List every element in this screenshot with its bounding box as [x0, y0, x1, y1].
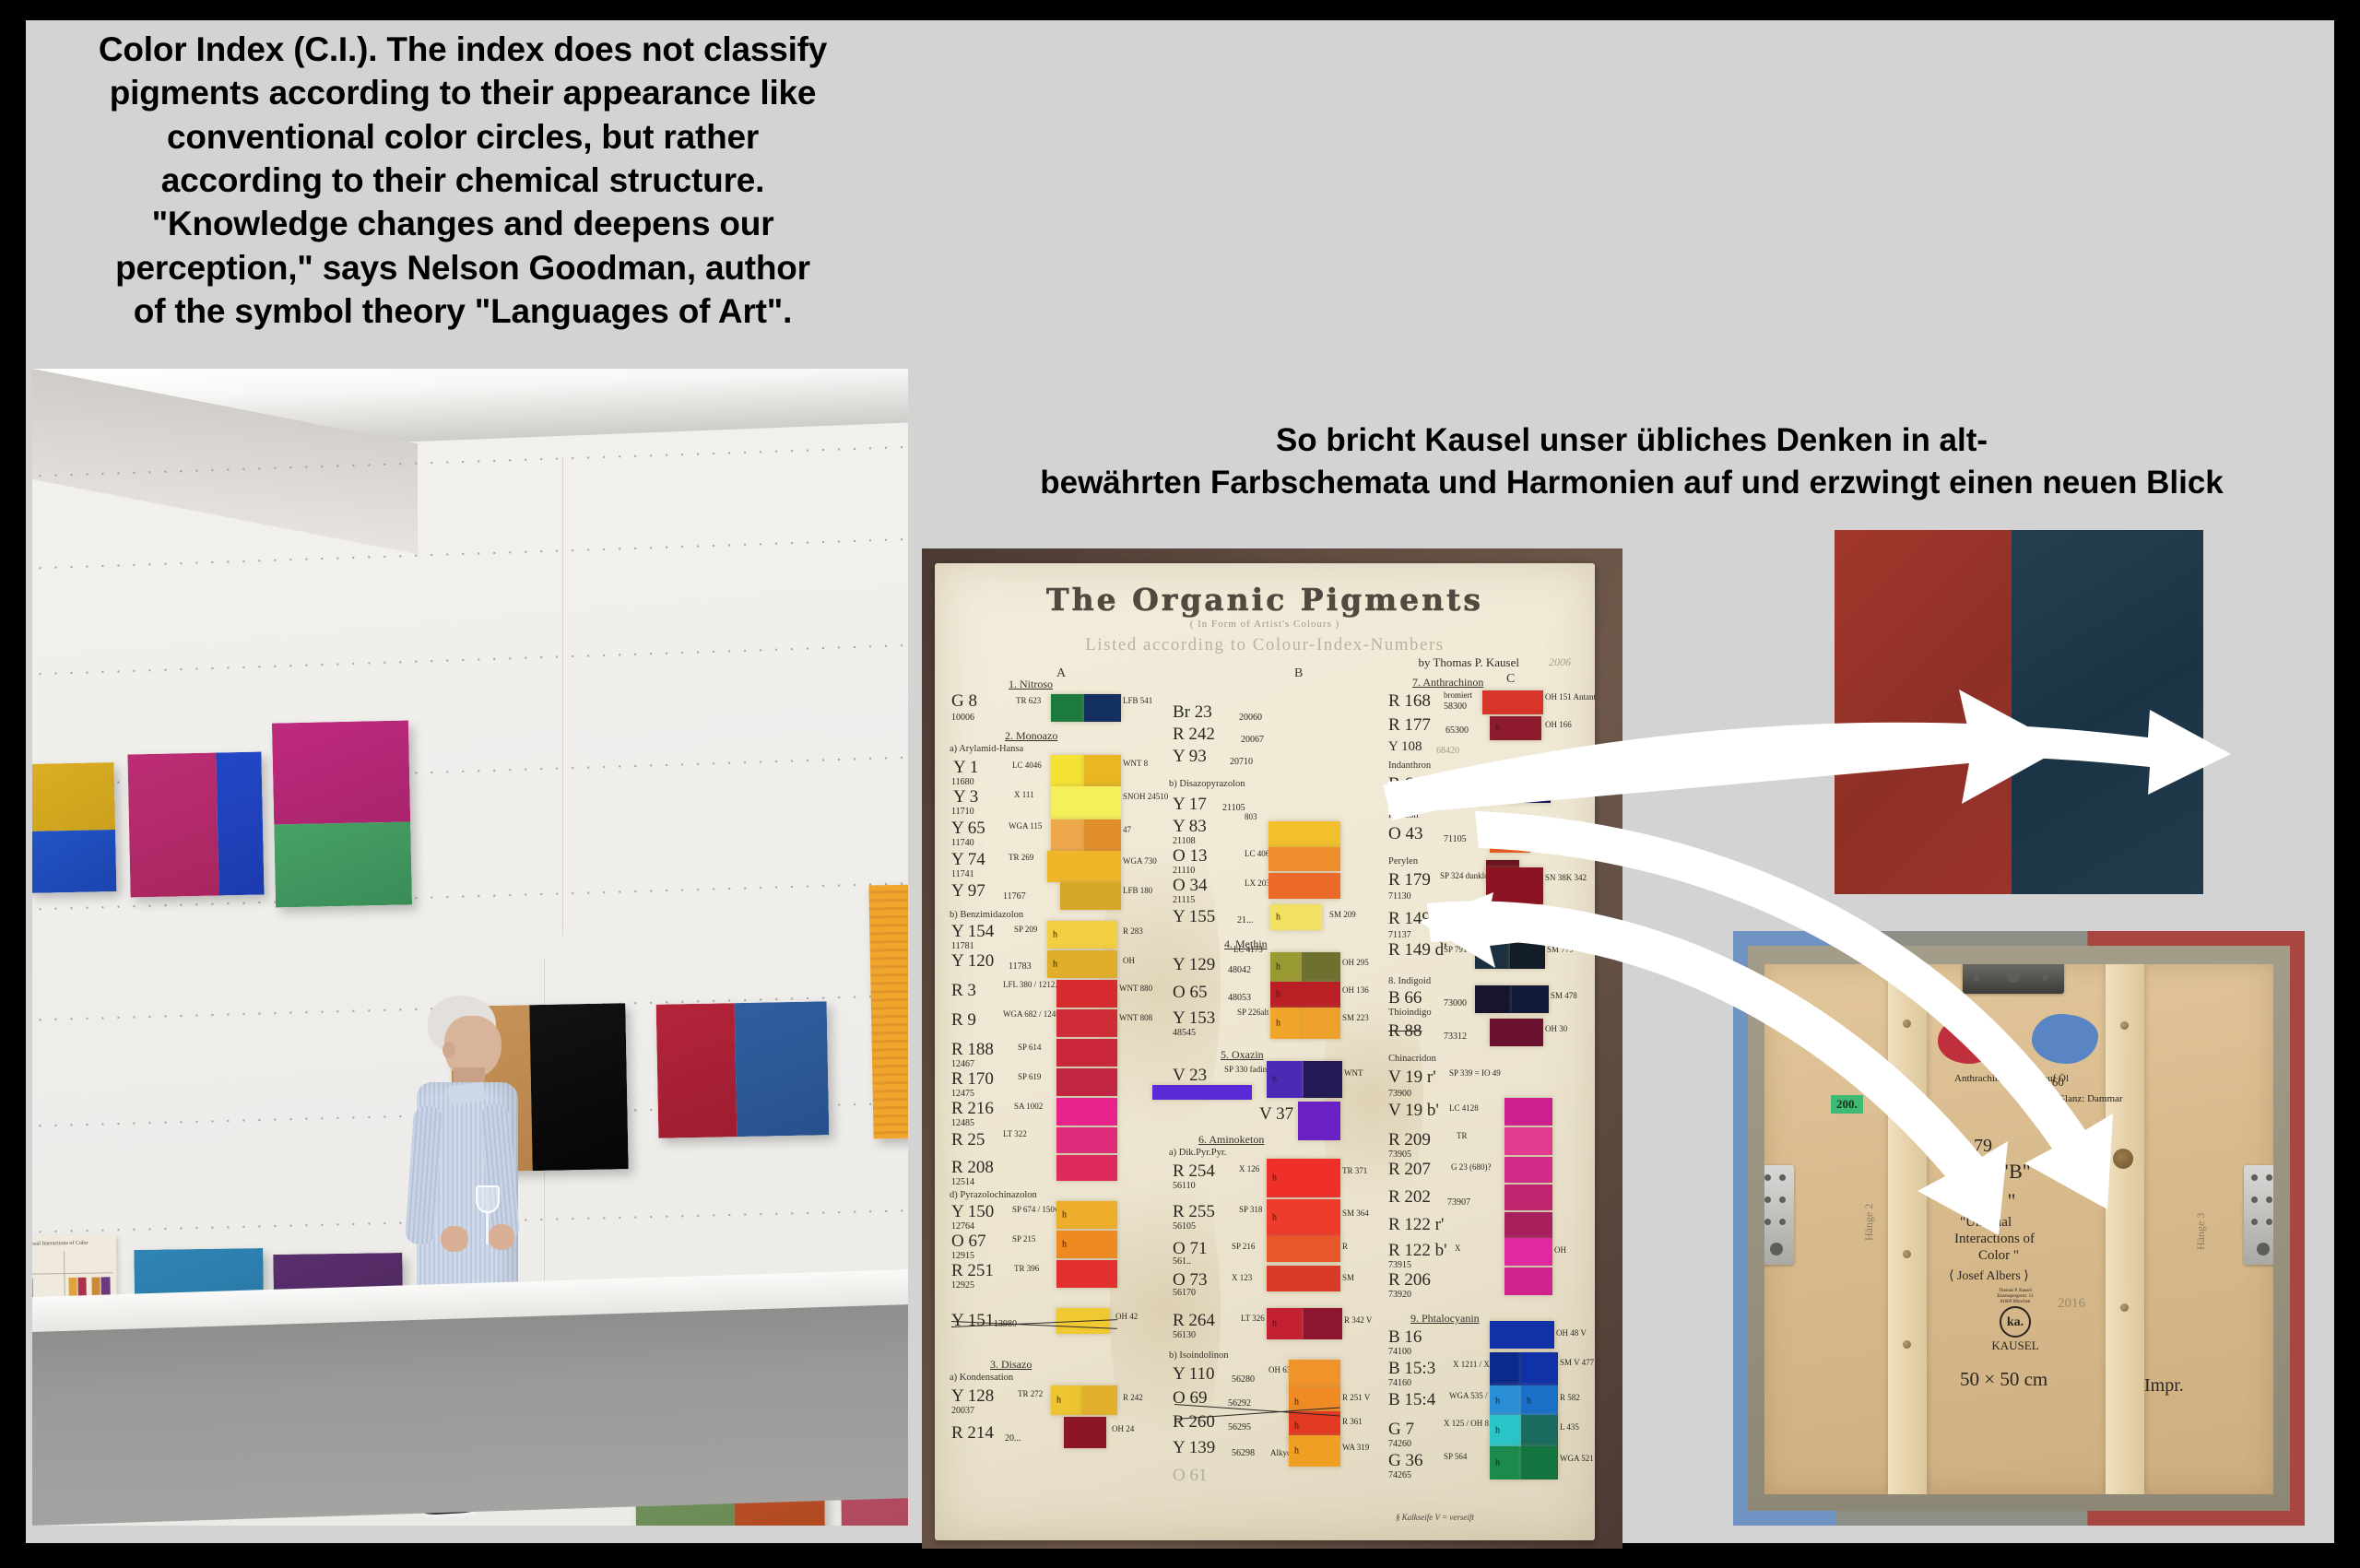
pigment-swatch [1064, 1417, 1106, 1448]
pigment-swatch [1289, 1360, 1340, 1391]
pigment-code: R 255 [1173, 1203, 1215, 1220]
pigment-ref: LC 4173 [1233, 945, 1263, 954]
pigment-ci: 74100 [1388, 1347, 1411, 1357]
painting-magenta-blue [127, 751, 264, 897]
pigment-ci: 56295 [1228, 1422, 1251, 1432]
pigment-right: WA 319 [1342, 1443, 1369, 1452]
pigment-right: 47 [1123, 825, 1131, 834]
pigment-right: OH 166 [1545, 720, 1572, 729]
pigment-swatch [1521, 1415, 1558, 1446]
pigment-ref: TR 623 [1016, 696, 1041, 705]
pigment-swatch [1056, 1155, 1117, 1181]
slide-root: Color Index (C.I.). The index does not c… [0, 0, 2360, 1568]
pigment-ref: SP 318 [1239, 1205, 1262, 1214]
pigment-ci: 11680 [951, 777, 974, 787]
pigment-swatch-bleed [1152, 1085, 1252, 1100]
pigment-ref: SA 1002 [1014, 1102, 1043, 1111]
pigment-code: R 177 [1388, 716, 1431, 734]
pigment-right: SM 478 [1551, 991, 1577, 1000]
pigment-ref: bromiert [1444, 690, 1472, 700]
pigment-code: Y 110 [1173, 1365, 1215, 1383]
pigment-ref: SP 791 [1444, 945, 1467, 954]
pigment-subgroup: b) Disazopyrazolon [1169, 779, 1245, 789]
pigment-right: L 435 [1560, 1422, 1579, 1432]
pigment-code: R 208 [951, 1159, 994, 1176]
pigment-swatch [1051, 786, 1121, 819]
pigment-subgroup: Perinon [1388, 810, 1419, 820]
pigment-subgroup: b) Benzimidazolon [950, 910, 1023, 920]
intro-line-7: of the symbol theory "Languages of Art". [20, 289, 905, 333]
poster-author: by Thomas P. Kausel [1418, 655, 1519, 670]
pigment-right: SM 400 [1552, 779, 1579, 788]
pigment-ci: 74160 [1388, 1378, 1411, 1388]
pigment-swatch: h [1490, 1415, 1521, 1446]
pigment-right: R 242 [1123, 1393, 1143, 1402]
pigment-ci: 56298 [1232, 1448, 1255, 1458]
pigment-swatch: h [1267, 1199, 1340, 1236]
painting-orange-stripes [868, 884, 908, 1138]
pigment-ci: 56130 [1173, 1330, 1196, 1340]
pigment-right: OH 136 [1342, 985, 1369, 995]
pigment-code: Y 153 [1173, 1009, 1215, 1027]
pigment-code: Y 97 [951, 882, 985, 900]
pigment-right: R 334 [1547, 912, 1567, 921]
pigment-group: 5. Oxazin [1221, 1048, 1264, 1062]
pigment-subgroup: a) Arylamid-Hansa [950, 744, 1023, 754]
pigment-swatch: h [1270, 982, 1340, 1008]
pigment-swatch [1060, 882, 1121, 910]
pigment-code: R 242 [1173, 725, 1215, 743]
wood-knot [2113, 1149, 2133, 1169]
pigment-ci: 74260 [1388, 1439, 1411, 1449]
pigment-swatch [1268, 821, 1340, 847]
pigment-ci: 56170 [1173, 1288, 1196, 1298]
pigment-right: SM V 477 [1560, 1358, 1594, 1367]
pigment-code: R 206 [1388, 1271, 1431, 1289]
pigment-code: Y 108 [1388, 740, 1422, 754]
pigment-code: Y 154 [951, 923, 994, 940]
pigment-subgroup: Perylen [1388, 856, 1418, 867]
pigment-ci: 11710 [951, 807, 974, 817]
pigment-swatch: h [1267, 1061, 1304, 1098]
pigment-ci: 21115 [1173, 895, 1195, 905]
canvas-hang-label-left: Hänge 2 [1862, 1204, 1876, 1241]
pigment-ci: 20710 [1230, 757, 1253, 767]
pigment-swatch: h [1270, 1008, 1302, 1039]
pigment-right: WNT 808 [1119, 1013, 1152, 1022]
pigment-ref: LX 203 [1245, 878, 1270, 888]
canvas-inscription-number: 1.79 [1960, 1136, 1992, 1157]
pigment-ref: WGA 682 / 12460 [1003, 1009, 1064, 1019]
pigment-code-struck: R 88 [1388, 1022, 1422, 1040]
pigment-ci: 21105 [1222, 803, 1245, 813]
painting-magenta-green [272, 720, 412, 907]
pigment-swatch [1051, 755, 1084, 786]
pigment-ref: SP 215 [1012, 1234, 1035, 1244]
pigment-code: B 15:4 [1388, 1391, 1435, 1409]
pigment-swatch: h [1267, 1308, 1304, 1339]
pigment-ci: 21... [1237, 915, 1254, 925]
pigment-code: O 61 [1173, 1467, 1207, 1484]
pigment-right: SM 779 [1547, 945, 1574, 954]
pigment-swatch [1267, 1236, 1340, 1262]
pigment-swatch [1504, 1127, 1552, 1155]
pigment-swatch: h [1490, 716, 1541, 740]
pigment-swatch: h [1270, 904, 1322, 930]
canvas-back-panel: 200. Anthrachinon / Acryl auf Öl Glanz: … [1764, 964, 2273, 1494]
pigment-right: SM 223 [1342, 1013, 1369, 1022]
canvas-inscription-title-1: "Unusual [1960, 1215, 2012, 1231]
pigment-code: B 66 [1388, 989, 1422, 1007]
pigment-code: O 13 [1173, 847, 1207, 865]
pigment-right: OH 151 Antanthron [1545, 692, 1595, 701]
pigment-ref: LFL 380 / 1212.0 [1003, 980, 1061, 989]
pigment-swatch [1056, 1098, 1117, 1126]
pigment-code: B 60 [1388, 775, 1422, 793]
pigment-ref: X [1455, 1244, 1461, 1253]
pigment-subgroup: Indanthron [1388, 760, 1431, 771]
pigment-ci: 11741 [951, 869, 974, 879]
pigment-swatch: h [1479, 906, 1545, 937]
pigment-ci: 20037 [951, 1406, 974, 1416]
pigment-right: OH 295 [1342, 958, 1369, 967]
pigment-code: Y 150 [951, 1203, 994, 1220]
pigment-swatch [1304, 1061, 1342, 1098]
canvas-inscription-60: 60 " [1982, 1189, 2015, 1213]
pigment-right: TR 371 [1342, 1166, 1367, 1175]
canvas-size: 50 × 50 cm [1960, 1368, 2047, 1391]
pigment-swatch-b60-blue [1479, 772, 1510, 803]
visitor-hand-right [489, 1224, 514, 1250]
pigment-swatch: h [1490, 1385, 1521, 1417]
pigment-code: R 207 [1388, 1161, 1431, 1178]
pigment-swatch [1521, 1352, 1558, 1385]
poster-column-c: 7. Anthrachinon R 168 58300 bromiert OH … [1386, 676, 1595, 1533]
pigment-swatch [1504, 1267, 1552, 1295]
pigment-group: 1. Nitroso [1009, 678, 1053, 691]
pigment-ci: 11740 [951, 838, 974, 848]
pigment-code: R 216 [951, 1100, 994, 1117]
pigment-code: Y 93 [1173, 748, 1207, 765]
pigment-ci: 12915 [951, 1251, 974, 1261]
pigment-code: Y 83 [1173, 818, 1207, 835]
pigment-code: R 209 [1388, 1131, 1431, 1149]
pigment-swatch [1047, 851, 1121, 882]
wall-seam [562, 456, 563, 936]
pigment-group: 6. Aminoketon [1198, 1133, 1264, 1147]
pigment-ci: 69800 [1388, 796, 1411, 806]
german-headline-line-2: bewährten Farbschemata und Harmonien auf… [913, 462, 2351, 504]
visitor-ear [442, 1042, 455, 1058]
pigment-ref: LT 322 [1003, 1129, 1027, 1138]
poster-footer-note: § Kalkseife V = verseift [1396, 1513, 1474, 1522]
pigment-code: Y 128 [951, 1387, 994, 1405]
pigment-right: OH 30 [1545, 1024, 1567, 1033]
pigment-code: Y 139 [1173, 1439, 1215, 1456]
pigment-code: Y 1 [953, 759, 978, 776]
pigment-ci: 71130 [1388, 891, 1411, 902]
pigment-swatch [1510, 939, 1545, 969]
pigment-code: Y 17 [1173, 796, 1207, 813]
intro-line-3: conventional color circles, but rather [20, 115, 905, 159]
pigment-swatch [1268, 873, 1340, 899]
pigment-ci: 73907 [1447, 1197, 1470, 1208]
pigment-ci: 20060 [1239, 713, 1262, 723]
pigment-right: OH [1123, 956, 1135, 965]
pigment-swatch [1082, 1385, 1117, 1415]
pigment-code: R 149 [1388, 910, 1431, 927]
pigment-right: OH 48 V [1556, 1328, 1587, 1338]
pigment-swatch: h [1289, 1435, 1340, 1467]
pigment-swatch-r179 [1486, 867, 1543, 904]
pigment-swatch [1268, 847, 1340, 871]
pigment-ref: SP 564 [1444, 1452, 1467, 1461]
pigment-swatch [1084, 694, 1121, 722]
pigment-code: Y 65 [951, 819, 985, 837]
pigment-code: V 19 r' [1388, 1068, 1436, 1086]
pigment-ci: 73905 [1388, 1149, 1411, 1160]
pigment-right: R 283 [1123, 926, 1143, 936]
intro-line-6: perception," says Nelson Goodman, author [20, 246, 905, 289]
poster-year: 2006 [1549, 655, 1571, 669]
pigment-ci: 73000 [1444, 998, 1467, 1008]
pigment-ci: 12764 [951, 1221, 974, 1232]
pigment-ref: G 23 (680)? [1451, 1162, 1492, 1172]
pigment-swatch [1302, 1008, 1340, 1039]
pigment-ci: 12485 [951, 1118, 974, 1128]
canvas-inscription-rb: "R" "B" [1965, 1160, 2031, 1184]
pigment-swatch [1490, 821, 1530, 853]
pigment-ci: 71137 [1388, 930, 1411, 940]
green-inventory-label: 200. [1831, 1095, 1863, 1114]
pigment-swatch: h [1270, 952, 1302, 982]
stamp-name: KAUSEL [1978, 1338, 2052, 1353]
pigment-code: O 71 [1173, 1240, 1207, 1257]
pigment-ref: SP 209 [1014, 925, 1037, 934]
pigment-group: 7. Anthrachinon [1412, 676, 1483, 690]
pigment-swatch [1504, 1157, 1552, 1183]
pigment-right: WNT 880 [1119, 984, 1152, 993]
wall-chart-title: Unusual Interactions of Color [32, 1240, 113, 1247]
pigment-swatch [1056, 1068, 1117, 1096]
pigment-ci: 20... [1005, 1433, 1021, 1444]
painting-front-left-field [1835, 530, 2012, 894]
pigment-code: V 19 b' [1388, 1102, 1439, 1119]
pigment-code: R 170 [951, 1070, 994, 1088]
hanging-plate-left [1764, 1165, 1794, 1265]
pigment-swatch [1302, 952, 1340, 982]
poster-title: The Organic Pigments [935, 582, 1595, 618]
pigment-subgroup: a) Dik.Pyr.Pyr. [1169, 1148, 1226, 1158]
painting-front-right-field [2012, 530, 2203, 894]
poster-subtitle-1: ( In Form of Artist's Colours ) [935, 619, 1595, 630]
poster-column-a: 1. Nitroso G 8 10006 TR 623 LFB 541 2. M… [948, 676, 1167, 1533]
pigment-code: V 23 [1173, 1067, 1207, 1084]
screw [2120, 1303, 2129, 1312]
pigment-ref: X 111 [1014, 790, 1034, 799]
pigment-group: 3. Disazo [990, 1358, 1032, 1372]
pigment-ref: SP 619 [1018, 1072, 1041, 1081]
pigment-ref: 803 [1245, 812, 1257, 821]
pigment-swatch [1084, 819, 1121, 851]
artist-stamp: Thomas P. Kausel Enzenspergerstr. 12 816… [1978, 1289, 2052, 1353]
pigment-code: Y 155 [1173, 908, 1215, 925]
pigment-swatch [1504, 1098, 1552, 1126]
pigment-code: R 149 d' [1388, 941, 1447, 959]
pigment-ci: 71105 [1444, 834, 1467, 844]
gallery-exhibition-photo: Unusual Interactions of Color [32, 369, 908, 1526]
pigment-group: 2. Monoazo [1005, 729, 1057, 743]
pigment-ci: 21110 [1173, 866, 1195, 876]
pigment-ci: 73915 [1388, 1260, 1411, 1270]
pigment-code: Br 23 [1173, 703, 1212, 721]
pigment-swatch [1504, 1212, 1552, 1238]
intro-line-2: pigments according to their appearance l… [20, 71, 905, 114]
pigment-swatch [1084, 755, 1121, 786]
pigment-swatch: h [1047, 921, 1117, 949]
pigment-swatch [1056, 1260, 1117, 1288]
pigment-code: R 202 [1388, 1188, 1431, 1206]
pigment-ref: TR [1457, 1131, 1468, 1140]
pigment-ci: 12475 [951, 1089, 974, 1099]
pigment-right: WGA 730 [1123, 856, 1157, 866]
canvas-impr: Impr. [2144, 1375, 2184, 1397]
pigment-ref: X 126 [1239, 1164, 1259, 1173]
pigment-swatch: h [1521, 1385, 1558, 1417]
pigment-code: R 25 [951, 1131, 985, 1149]
wine-glass-stem [486, 1211, 489, 1244]
pigment-ref: SP 614 [1018, 1043, 1041, 1052]
pigment-ref: TR 269 [1009, 853, 1033, 862]
visitor-hand-left [441, 1226, 468, 1252]
pigment-ci: 48053 [1228, 993, 1251, 1003]
pigment-right: OH 24 [1112, 1424, 1134, 1433]
screw [1903, 1340, 1911, 1349]
pigment-ci: 561.. [1173, 1256, 1191, 1267]
canvas-note-b60: B 60 [2041, 1075, 2064, 1090]
pigment-ci: 58300 [1444, 701, 1467, 712]
pigment-swatch-b60-dark [1510, 772, 1551, 803]
pigment-subgroup: a) Kondensation [950, 1373, 1013, 1383]
pigment-ref: WGA 115 [1009, 821, 1042, 831]
canvas-back-photo: 200. Anthrachinon / Acryl auf Öl Glanz: … [1733, 931, 2305, 1526]
pigment-ci: 10006 [951, 713, 974, 723]
pigment-subgroup: Thioindigo [1388, 1008, 1432, 1018]
pigment-swatch [1482, 690, 1543, 714]
pigment-swatch [1056, 980, 1117, 1008]
intro-line-1: Color Index (C.I.). The index does not c… [20, 28, 905, 71]
pigment-code: O 73 [1173, 1271, 1207, 1289]
painting-front-red-blue [1835, 530, 2203, 894]
pigment-code: R 264 [1173, 1312, 1215, 1329]
pigment-ref: TR 396 [1014, 1264, 1039, 1273]
pigment-right: SM 209 [1329, 910, 1356, 919]
pigment-code: R 179 [1388, 871, 1431, 889]
pigment-swatch [1298, 1102, 1340, 1140]
pigment-ref: X 123 [1232, 1273, 1252, 1282]
pigment-swatch: h [1490, 1446, 1521, 1480]
canvas-note-glanz: Glanz: Dammar [2058, 1093, 2123, 1104]
pigment-code: R 254 [1173, 1162, 1215, 1180]
pigment-code: R 214 [951, 1424, 994, 1442]
blue-paint-sample [2032, 1014, 2098, 1064]
pigment-swatch [1056, 1127, 1117, 1153]
pigment-right: SM 364 [1342, 1208, 1369, 1218]
pigment-right: OH 42 [1115, 1312, 1138, 1321]
pigment-right: R 251 V [1342, 1393, 1370, 1402]
pigment-code: O 65 [1173, 984, 1207, 1001]
screw [1903, 1020, 1911, 1028]
pigment-swatch [1512, 985, 1549, 1013]
canvas-hang-label-right: Hänge 3 [2194, 1213, 2208, 1250]
pigment-swatch: h [1267, 1159, 1340, 1197]
pigment-ci: 56280 [1232, 1374, 1255, 1385]
pigment-swatch [1051, 694, 1084, 722]
pigment-ci: 48042 [1228, 965, 1251, 975]
pigment-swatch: h [1047, 950, 1117, 978]
pigment-ci: 11781 [951, 941, 974, 951]
pigment-swatch [1490, 1019, 1543, 1046]
pigment-swatch [1051, 819, 1084, 851]
intro-line-4: according to their chemical structure. [20, 159, 905, 202]
pigment-ci: 74265 [1388, 1470, 1411, 1480]
pigment-code: O 67 [951, 1232, 985, 1250]
canvas-inscription-title-2: Interactions of [1954, 1232, 2035, 1247]
hanging-plate-top [1963, 964, 2064, 994]
pigment-right: SNOH 24510 [1123, 792, 1168, 801]
pigment-ref: SP 339 = IO 49 [1449, 1068, 1501, 1078]
pigment-ci: 73312 [1444, 1032, 1467, 1042]
pigment-swatch [1267, 1266, 1340, 1291]
pigment-code: B 16 [1388, 1328, 1422, 1346]
gallery-floor [32, 1304, 908, 1526]
poster-subtitle-2: Listed according to Colour-Index-Numbers [935, 635, 1595, 655]
pigment-right: R 582 [1560, 1393, 1580, 1402]
pigment-right: R 342 V [1344, 1315, 1372, 1325]
pigment-code: R 251 [951, 1262, 994, 1279]
pigment-ci: 12925 [951, 1280, 974, 1291]
pigment-ref: TR 272 [1018, 1389, 1043, 1398]
pigment-right: SN 38K 342 [1545, 873, 1587, 882]
pigment-ref: LC 4128 [1449, 1103, 1479, 1113]
pigment-swatch [1056, 1039, 1117, 1067]
stretcher-bar-right [2106, 964, 2144, 1494]
pigment-code: R 9 [951, 1011, 976, 1029]
pigment-ci: 48545 [1173, 1028, 1196, 1038]
stamp-address: Thomas P. Kausel Enzenspergerstr. 12 816… [1978, 1289, 2052, 1304]
pigment-right: LFB 541 [1123, 696, 1152, 705]
pigment-code: R 122 b' [1388, 1242, 1447, 1259]
pigment-swatch [1304, 1308, 1342, 1339]
pigment-right: R [1342, 1242, 1348, 1251]
screw [2120, 1021, 2129, 1030]
pigment-ref: WFA 464 [1444, 912, 1476, 921]
pigment-subgroup: d) Pyrazolochinazolon [950, 1190, 1037, 1200]
pigment-code: O 34 [1173, 877, 1207, 894]
pigment-right: R 361 [1342, 1417, 1363, 1426]
pigment-ci: 21108 [1173, 836, 1196, 846]
stamp-mark: ka. [2000, 1306, 2031, 1338]
pigment-subgroup: 8. Indigoid [1388, 976, 1431, 986]
pigment-subgroup: Chinacridon [1388, 1054, 1436, 1064]
intro-paragraph: Color Index (C.I.). The index does not c… [20, 28, 905, 334]
pigment-swatch [1490, 1321, 1554, 1349]
german-headline: So bricht Kausel unser übliches Denken i… [913, 419, 2351, 504]
german-headline-line-1: So bricht Kausel unser übliches Denken i… [1276, 422, 1988, 458]
pigment-code: V 37 [1259, 1105, 1293, 1123]
stretcher-bar-left [1888, 964, 1927, 1494]
pigment-ci: 65300 [1445, 725, 1469, 736]
